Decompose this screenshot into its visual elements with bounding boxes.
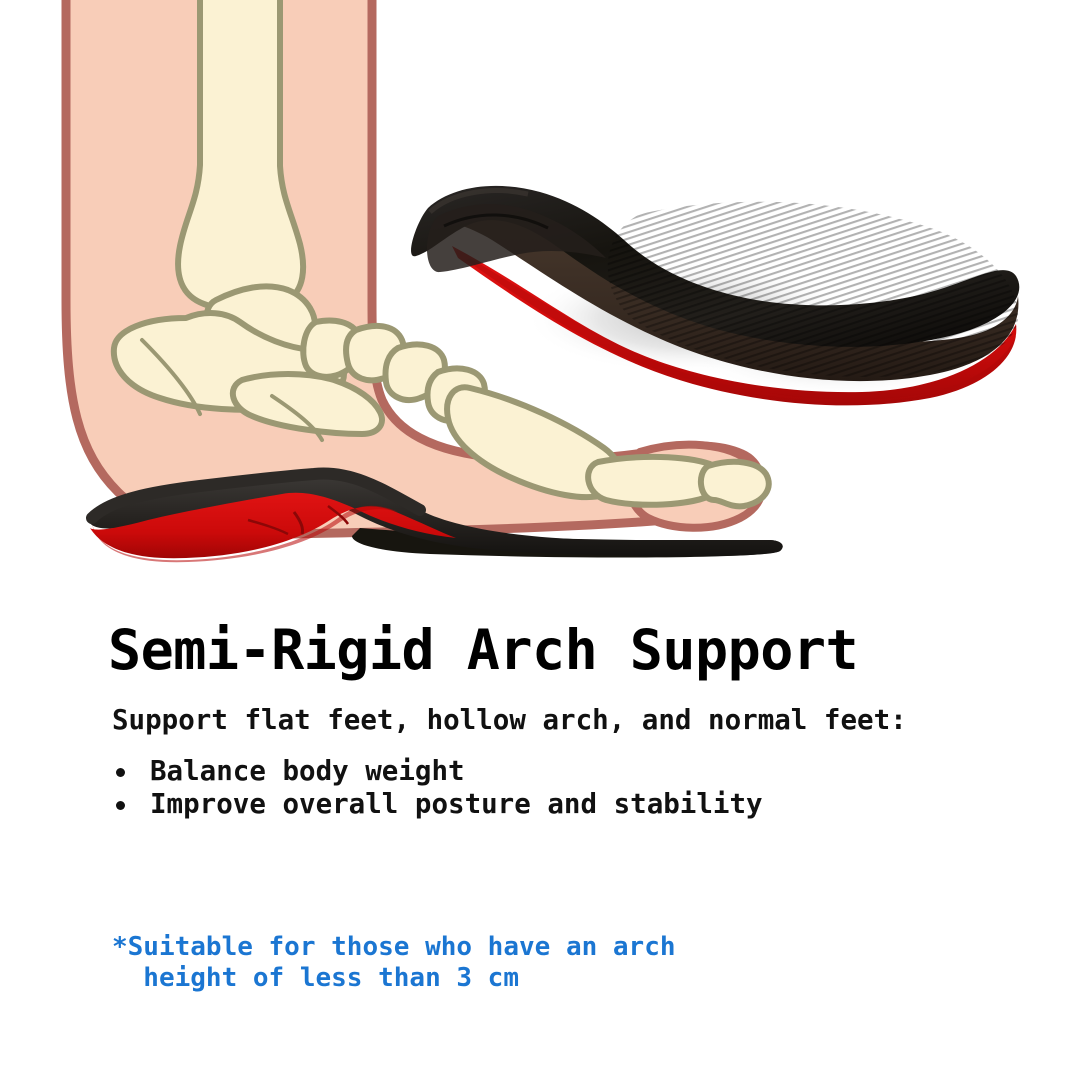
suitability-note-line-2: height of less than 3 cm xyxy=(112,963,519,993)
suitability-note-line-1: *Suitable for those who have an arch xyxy=(112,932,676,962)
foot-anatomy-illustration xyxy=(0,0,1080,600)
distal-phalanx-bone xyxy=(701,462,769,506)
product-infographic-page: Semi-Rigid Arch Support Support flat fee… xyxy=(0,0,1080,1080)
list-item-label: Balance body weight xyxy=(150,755,465,787)
suitability-note: *Suitable for those who have an arch hei… xyxy=(112,932,676,993)
copy-block: Semi-Rigid Arch Support Support flat fee… xyxy=(0,600,1080,1080)
list-item-label: Improve overall posture and stability xyxy=(150,788,763,820)
illustration-panel xyxy=(0,0,1080,600)
bullet-dot-icon xyxy=(116,768,125,777)
benefits-list: Balance body weight Improve overall post… xyxy=(112,756,763,823)
list-item: Balance body weight xyxy=(112,756,763,787)
page-title: Semi-Rigid Arch Support xyxy=(108,622,858,680)
list-item: Improve overall posture and stability xyxy=(112,789,763,820)
lede-text: Support flat feet, hollow arch, and norm… xyxy=(112,704,907,737)
bullet-dot-icon xyxy=(116,801,125,810)
